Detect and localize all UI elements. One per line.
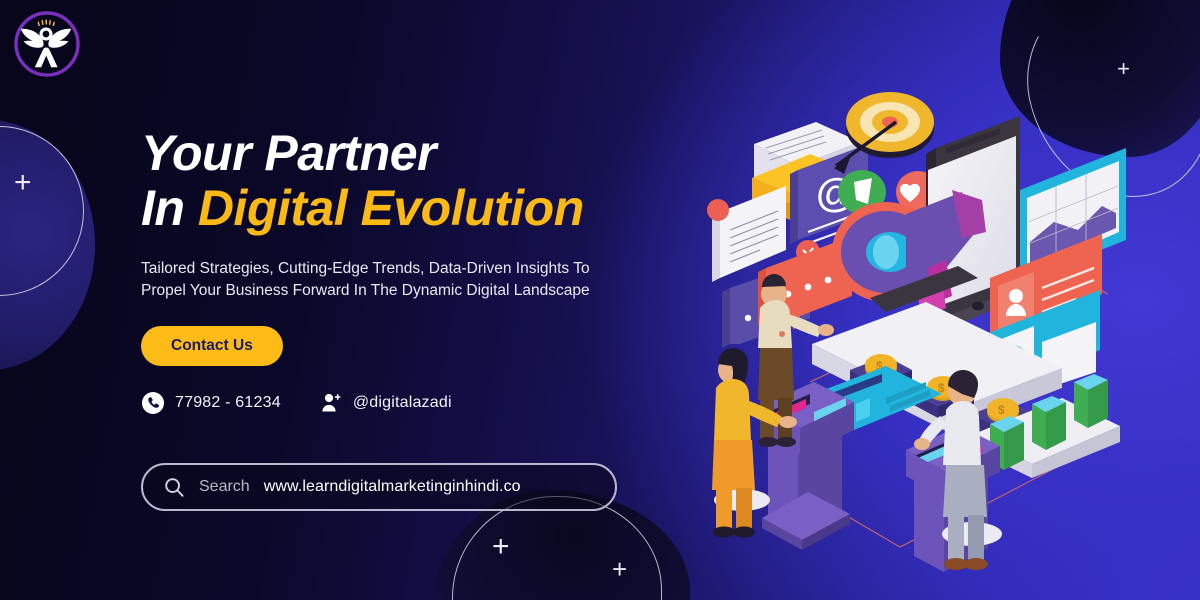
social-handle-contact[interactable]: @digitalazadi	[319, 391, 452, 415]
search-placeholder-label: Search	[199, 478, 250, 496]
subtitle-line-2: Propel Your Business Forward In The Dyna…	[141, 282, 590, 299]
hero-subtitle: Tailored Strategies, Cutting-Edge Trends…	[141, 258, 661, 302]
winged-figure-logo-icon	[8, 8, 86, 82]
circle-outline-left	[0, 126, 84, 296]
phone-contact[interactable]: 77982 - 61234	[141, 391, 281, 415]
hero-content: Your Partner In Digital Evolution Tailor…	[141, 126, 681, 511]
search-bar[interactable]: Search www.learndigitalmarketinginhindi.…	[141, 463, 617, 511]
digital-marketing-illustration: @	[690, 82, 1160, 572]
headline-line-2-prefix: In	[141, 180, 198, 236]
phone-number: 77982 - 61234	[175, 394, 281, 412]
hero-banner: Your Partner In Digital Evolution Tailor…	[0, 0, 1200, 600]
person-add-icon	[319, 391, 343, 415]
social-handle: @digitalazadi	[353, 394, 452, 412]
headline-line-1: Your Partner	[141, 125, 436, 181]
contact-row: 77982 - 61234 @digitalazadi	[141, 391, 681, 415]
plus-mark-icon	[1117, 58, 1130, 80]
page-title: Your Partner In Digital Evolution	[141, 126, 681, 236]
isometric-illustration-graphic: @	[690, 82, 1160, 572]
brand-logo[interactable]	[8, 8, 86, 82]
svg-text:$: $	[998, 403, 1005, 417]
circle-outline-bottom	[452, 496, 662, 600]
search-icon	[163, 476, 185, 498]
contact-us-button[interactable]: Contact Us	[141, 326, 283, 366]
subtitle-line-1: Tailored Strategies, Cutting-Edge Trends…	[141, 260, 590, 277]
headline-line-2-accent: Digital Evolution	[198, 180, 584, 236]
phone-icon	[141, 391, 165, 415]
kiosk-terminal-left	[760, 382, 854, 550]
search-input-value[interactable]: www.learndigitalmarketinginhindi.co	[264, 478, 521, 496]
